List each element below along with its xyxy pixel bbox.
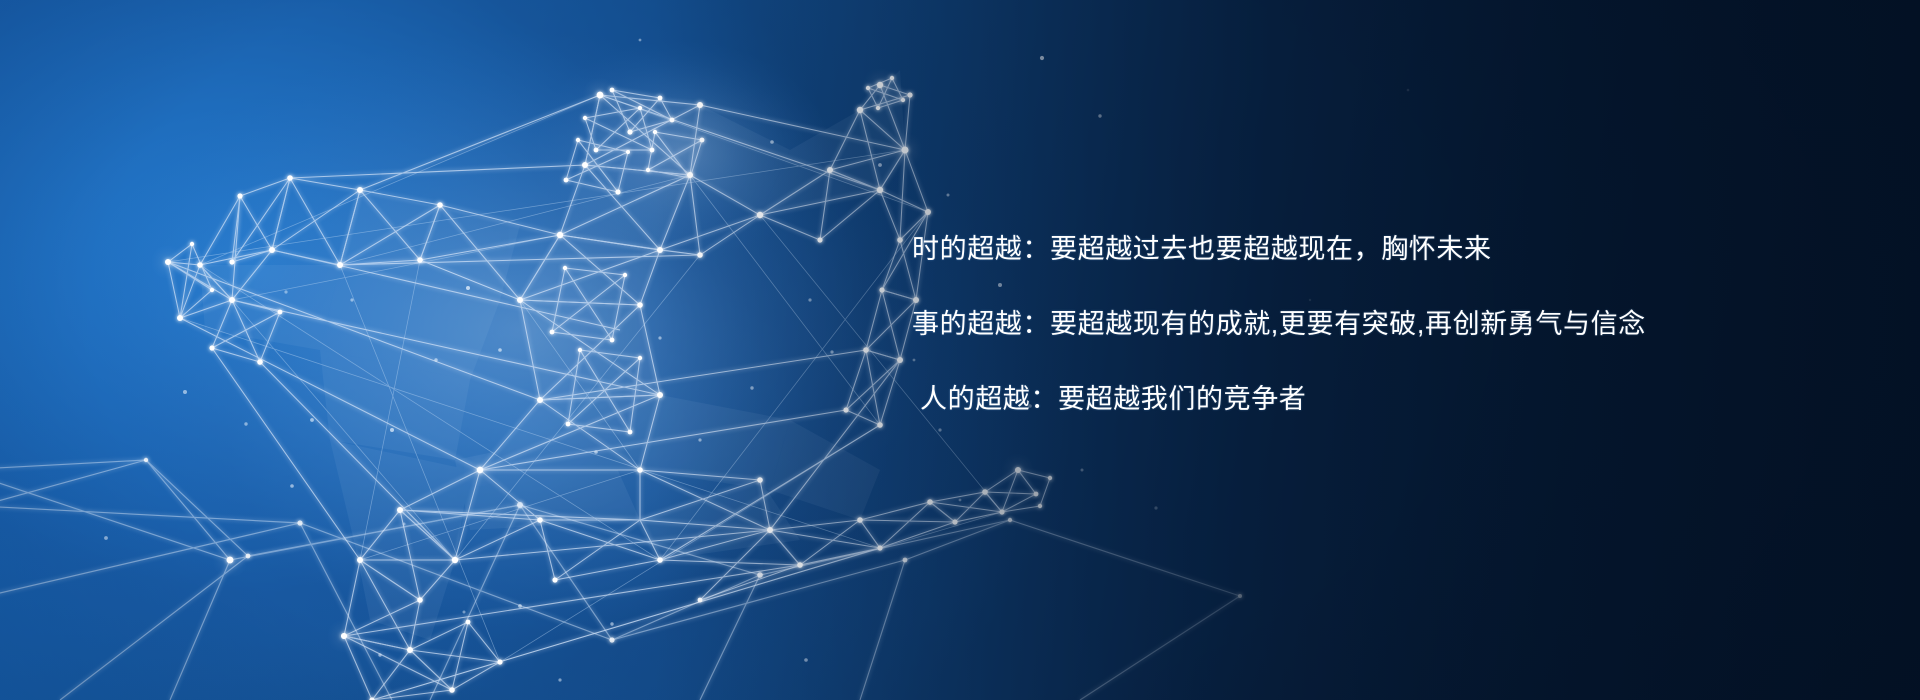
slogan-line-time: 时的超越：要超越过去也要超越现在，胸怀未来: [912, 236, 1872, 263]
hero-banner: 时的超越：要超越过去也要超越现在，胸怀未来 事的超越：要超越现有的成就,更要有突…: [0, 0, 1920, 700]
slogan-line-work: 事的超越：要超越现有的成就,更要有突破,再创新勇气与信念: [912, 311, 1872, 338]
slogan-line-people: 人的超越：要超越我们的竞争者: [920, 386, 1872, 413]
slogan-block: 时的超越：要超越过去也要超越现在，胸怀未来 事的超越：要超越现有的成就,更要有突…: [912, 236, 1872, 413]
